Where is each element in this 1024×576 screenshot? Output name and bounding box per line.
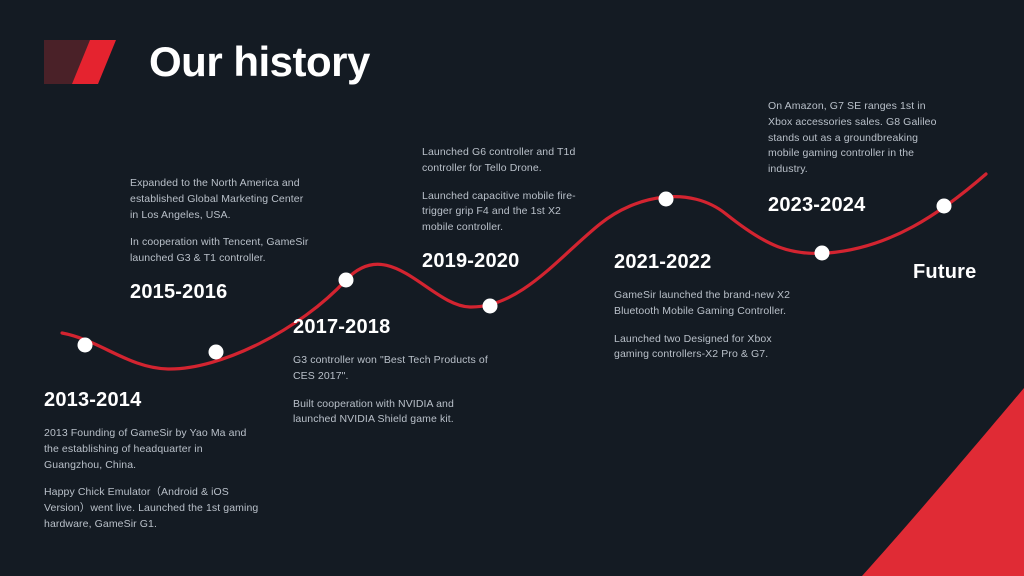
timeline-node-2013-2014 [78,338,93,353]
milestone-future: Future [913,261,1023,284]
milestone-2017-2018: 2017-2018 G3 controller won "Best Tech P… [293,316,493,428]
milestone-2023-2024: On Amazon, G7 SE ranges 1st in Xbox acce… [768,99,948,217]
milestone-2013-2014: 2013-2014 2013 Founding of GameSir by Ya… [44,389,259,533]
milestone-text-2021-2022-1: GameSir launched the brand-new X2 Blueto… [614,288,799,320]
milestone-2015-2016: Expanded to the North America and establ… [130,176,310,304]
milestone-year-2019-2020: 2019-2020 [422,250,587,273]
timeline-node-2015-2016 [209,345,224,360]
milestone-2019-2020: Launched G6 controller and T1d controlle… [422,145,587,273]
milestone-text-2013-2014-1: 2013 Founding of GameSir by Yao Ma and t… [44,426,259,473]
milestone-text-2019-2020-1: Launched G6 controller and T1d controlle… [422,145,587,177]
milestone-text-2017-2018-2: Built cooperation with NVIDIA and launch… [293,397,493,429]
slide-canvas: Our history 2013-2014 2013 Founding of G… [0,0,1024,576]
milestone-text-2015-2016-1: Expanded to the North America and establ… [130,176,310,223]
timeline-node-2021-2022 [659,192,674,207]
milestone-text-2017-2018-1: G3 controller won "Best Tech Products of… [293,353,493,385]
timeline-node-2019-2020 [483,299,498,314]
milestone-text-2013-2014-2: Happy Chick Emulator（Android & iOS Versi… [44,485,259,532]
timeline-node-2017-2018 [339,273,354,288]
timeline-node-2023-2024 [815,246,830,261]
milestone-year-2013-2014: 2013-2014 [44,389,259,412]
milestone-year-2021-2022: 2021-2022 [614,251,799,274]
milestone-year-future: Future [913,261,1023,284]
milestone-text-2023-2024-1: On Amazon, G7 SE ranges 1st in Xbox acce… [768,99,948,178]
milestone-text-2019-2020-2: Launched capacitive mobile fire-trigger … [422,189,587,236]
milestone-text-2015-2016-2: In cooperation with Tencent, GameSir lau… [130,235,310,267]
milestone-year-2017-2018: 2017-2018 [293,316,493,339]
milestone-year-2023-2024: 2023-2024 [768,194,948,217]
milestone-year-2015-2016: 2015-2016 [130,281,310,304]
milestone-2021-2022: 2021-2022 GameSir launched the brand-new… [614,251,799,363]
milestone-text-2021-2022-2: Launched two Designed for Xbox gaming co… [614,332,799,364]
